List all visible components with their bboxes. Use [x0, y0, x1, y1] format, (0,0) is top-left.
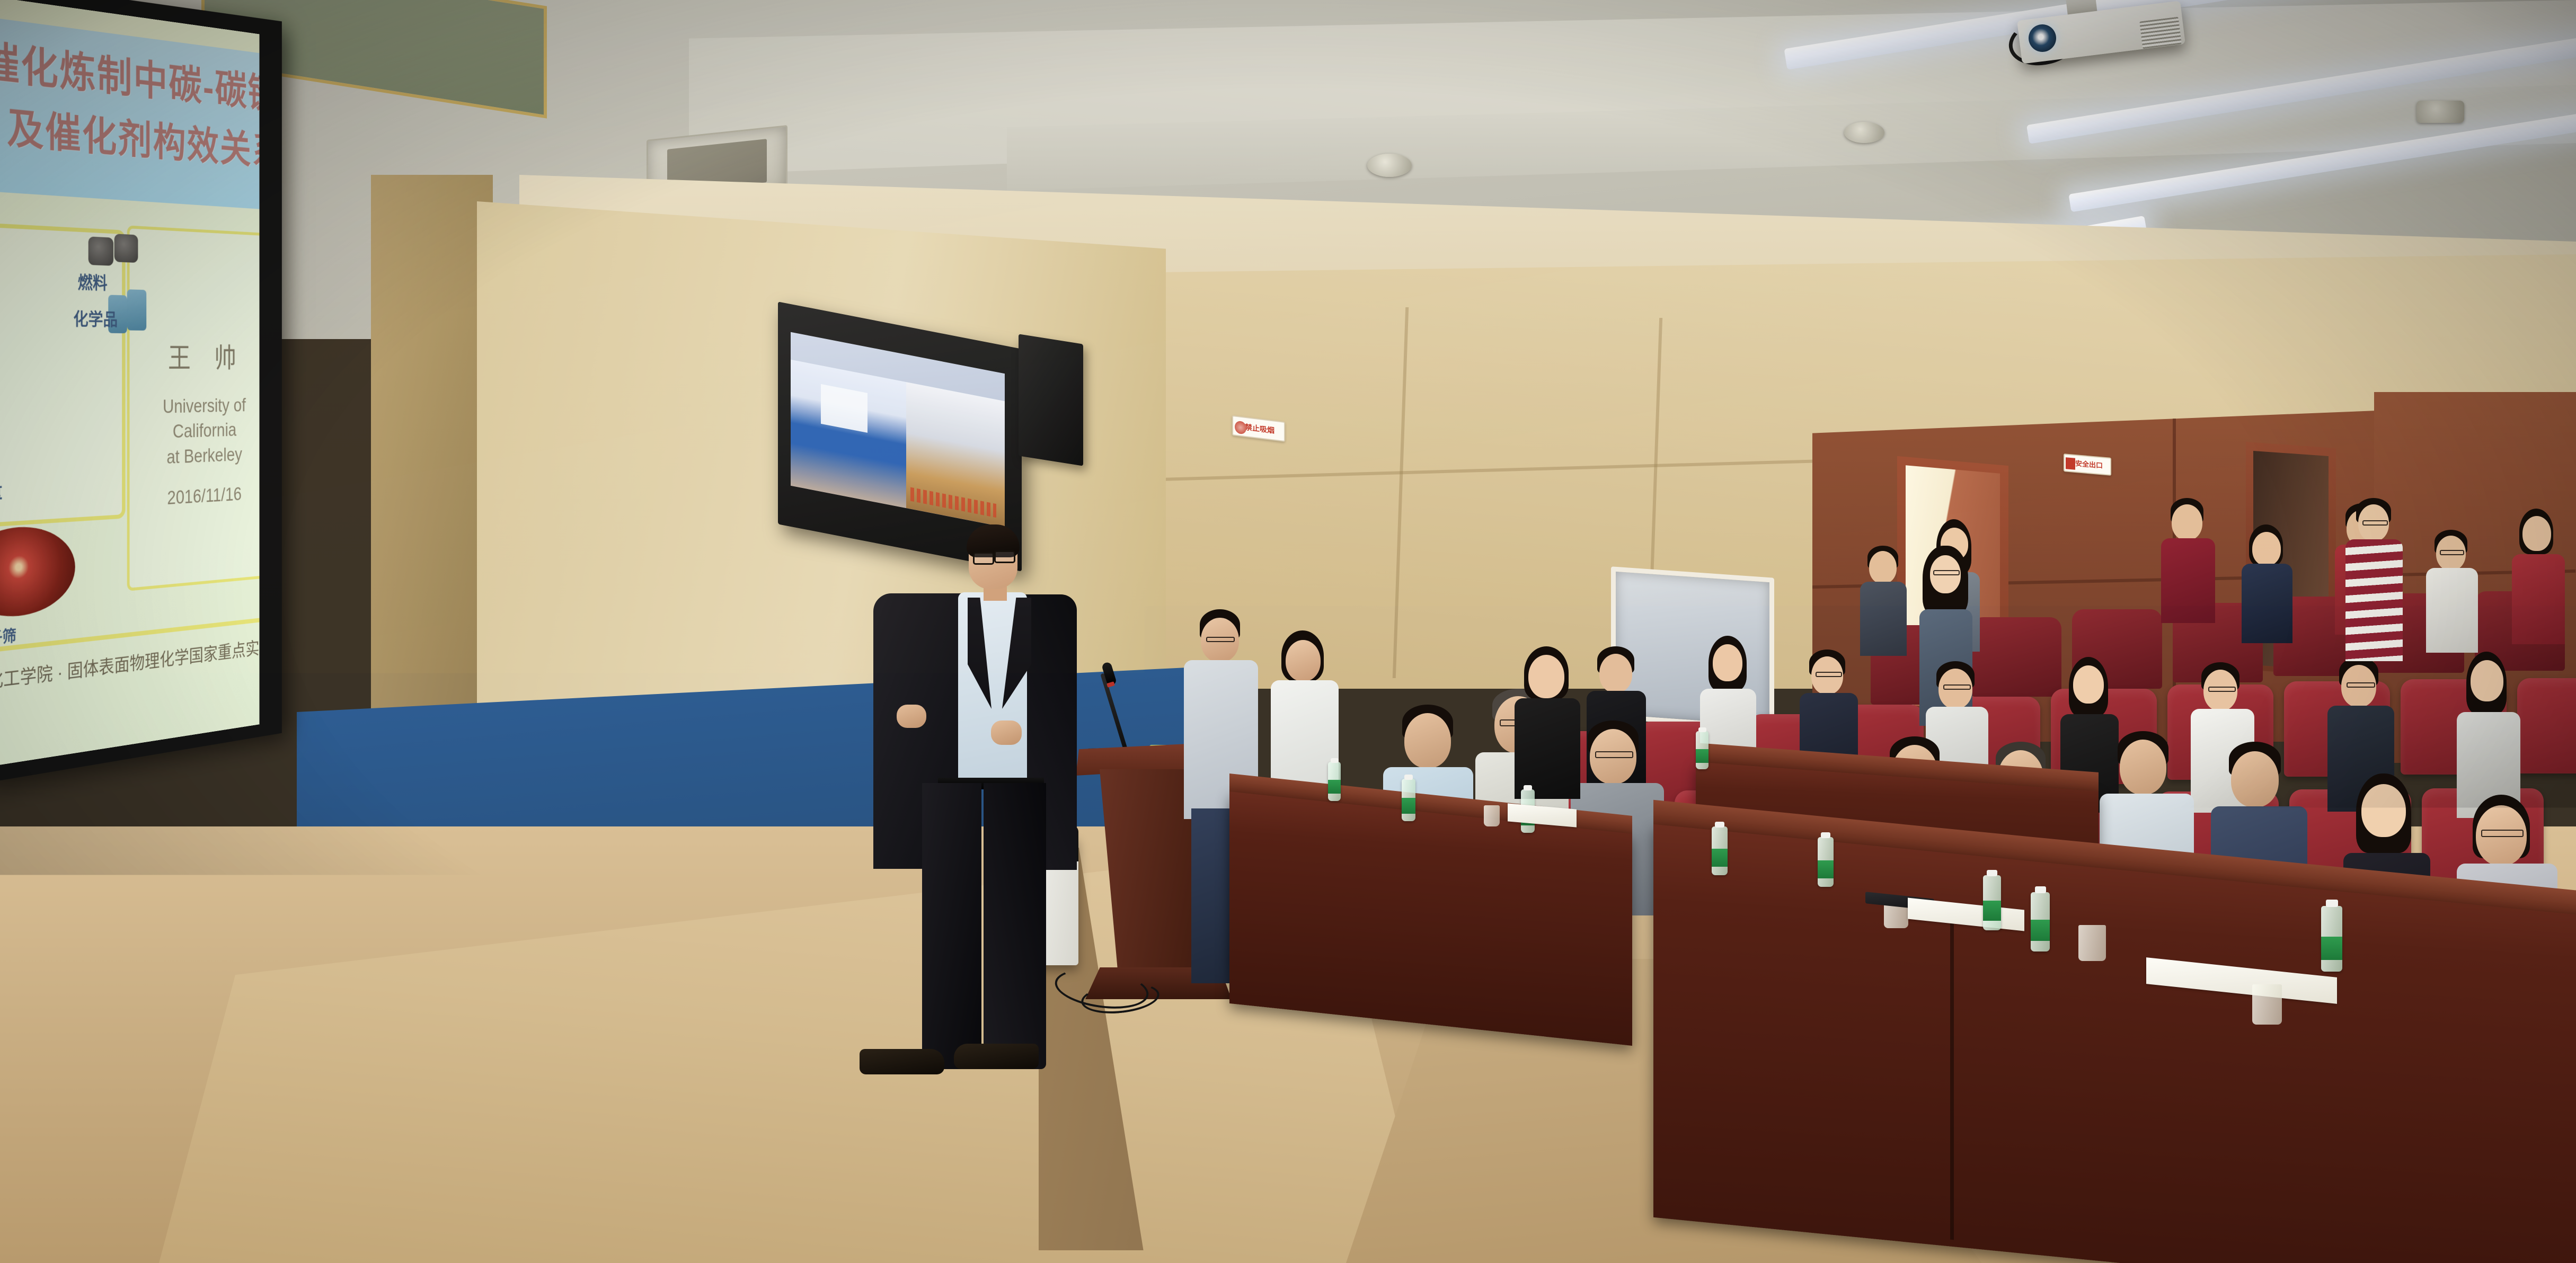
smoke-detector	[1367, 154, 1412, 177]
water-bottle[interactable]	[1328, 762, 1341, 801]
slide-fuel-icon	[114, 234, 138, 263]
bottle-cap	[1404, 775, 1413, 780]
bottle-cap	[2035, 886, 2046, 893]
slide-diagram-box-left	[0, 219, 126, 531]
slide-affiliation-line-1: University of California	[136, 393, 260, 446]
front-desk-left	[1229, 791, 1632, 1046]
torso	[1860, 582, 1907, 656]
presenter-shoe-right	[954, 1044, 1039, 1069]
head	[1713, 644, 1742, 681]
presenter-hand-left	[897, 705, 926, 728]
exit-notice-icon	[2066, 457, 2075, 470]
tv-camera-feed-left	[791, 360, 906, 508]
torso	[2345, 539, 2403, 661]
presenter-glasses-right	[994, 550, 1015, 563]
bottle-label	[1712, 849, 1728, 867]
glasses-icon	[1943, 684, 1971, 690]
bottle-label	[1818, 860, 1834, 878]
glasses-icon	[2347, 682, 2375, 688]
bottle-label	[1696, 749, 1709, 763]
slide-affiliation: University of California at Berkeley	[136, 393, 260, 472]
water-bottle[interactable]	[1402, 779, 1415, 821]
torso	[2161, 538, 2215, 623]
projector-vent-grille	[2139, 17, 2182, 49]
slide-lower-oxygen-label: 降低氧含量	[0, 473, 3, 509]
head	[2361, 784, 2406, 837]
bottle-label	[1402, 798, 1415, 814]
head	[1599, 654, 1632, 693]
torso	[2512, 554, 2565, 644]
head	[1528, 655, 1564, 698]
bottle-label	[1983, 901, 2001, 921]
presenter-trouser-right	[984, 783, 1046, 1069]
head	[1869, 551, 1897, 584]
slide-fuel-icon	[88, 236, 113, 265]
glasses-icon	[2481, 830, 2524, 837]
bottle-cap	[1715, 822, 1724, 828]
slide-speaker-name: 王 帅	[148, 335, 259, 376]
presenter-hand-right	[991, 721, 1022, 745]
glasses-icon	[1595, 751, 1633, 758]
glasses-icon	[2440, 550, 2464, 555]
wall-loudspeaker	[1019, 334, 1083, 466]
glasses-icon	[2362, 520, 2388, 526]
bottle-cap	[1987, 870, 1997, 876]
glasses-icon	[1933, 570, 1960, 575]
bottle-cap	[1698, 727, 1706, 732]
slide-molecular-sieve-graphic	[0, 523, 75, 621]
glasses-icon	[1816, 672, 1842, 677]
ceiling-speaker-grille	[2416, 101, 2464, 123]
drinking-glass[interactable]	[1484, 805, 1500, 826]
water-bottle[interactable]	[1818, 837, 1834, 887]
glasses-icon	[1206, 637, 1235, 642]
audience-seat[interactable]	[2517, 678, 2576, 773]
head	[2522, 516, 2551, 551]
head	[2471, 660, 2503, 701]
lecture-hall-photo: 禁止吸烟 安全出口 氢催化炼制中碳-碳键偶联的反应机理 及催化剂构效关系 燃料 …	[0, 0, 2576, 1263]
bottle-cap	[2326, 900, 2338, 907]
presenter-trouser-left	[922, 783, 981, 1069]
slide-chemicals-label: 化学品	[73, 305, 118, 331]
drinking-glass[interactable]	[2078, 925, 2106, 961]
water-bottle[interactable]	[1983, 875, 2001, 930]
bottle-cap	[1331, 758, 1339, 763]
presenter-shoe-left	[860, 1049, 944, 1074]
water-bottle[interactable]	[2321, 906, 2342, 972]
head	[1286, 640, 1321, 681]
torso	[2242, 564, 2292, 643]
head	[2073, 665, 2104, 704]
slide-chemicals-icon	[127, 289, 146, 331]
presenter-glasses-left	[973, 552, 994, 565]
water-bottle[interactable]	[1696, 731, 1709, 769]
bottle-cap	[1524, 785, 1532, 790]
bottle-cap	[1821, 832, 1830, 838]
torso	[2426, 568, 2478, 653]
head	[2172, 504, 2202, 540]
bottle-label	[2031, 920, 2050, 941]
bottle-label	[1328, 780, 1341, 794]
water-bottle[interactable]	[2031, 892, 2050, 951]
slide-fuel-label: 燃料	[78, 269, 108, 295]
audience-seat[interactable]	[1971, 617, 2061, 697]
bottle-label	[2321, 937, 2342, 960]
head	[2252, 532, 2281, 566]
smoke-detector	[1844, 122, 1884, 143]
desk-panel-seam	[1950, 911, 1954, 1240]
water-bottle[interactable]	[1712, 826, 1728, 875]
drinking-glass[interactable]	[2252, 984, 2282, 1025]
head	[1404, 713, 1451, 768]
torso	[1515, 698, 1580, 799]
glasses-icon	[2208, 687, 2236, 692]
head	[2120, 740, 2166, 795]
projection-screen: 氢催化炼制中碳-碳键偶联的反应机理 及催化剂构效关系 燃料 化学品 增长碳链 降…	[0, 0, 259, 768]
head	[2231, 751, 2279, 807]
